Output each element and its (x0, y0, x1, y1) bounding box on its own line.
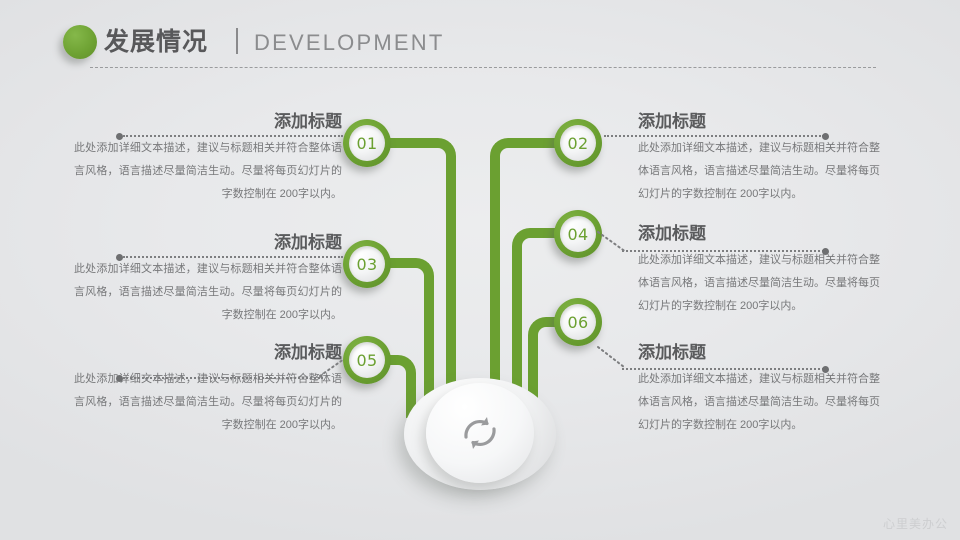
block-01-title: 添加标题 (74, 110, 342, 134)
center-hub-inner[interactable] (426, 383, 534, 483)
block-02-title: 添加标题 (612, 110, 880, 134)
watermark-text: 心里美办公 (883, 515, 948, 532)
block-03-title: 添加标题 (74, 231, 342, 255)
dot-line-06 (622, 368, 824, 373)
dot-cap-02 (822, 133, 829, 140)
header-dashed-rule (90, 67, 876, 68)
refresh-sync-icon (454, 407, 506, 459)
dot-line-05 (123, 377, 323, 382)
text-block-02: 添加标题 此处添加详细文本描述，建议与标题相关并符合整体语言风格，语言描述尽量简… (612, 110, 880, 206)
block-03-body: 此处添加详细文本描述，建议与标题相关并符合整体语言风格，语言描述尽量简洁生动。尽… (74, 258, 342, 327)
dot-line-02 (604, 135, 824, 140)
badge-06-label: 06 (560, 304, 596, 340)
page-subtitle: DEVELOPMENT (254, 27, 444, 59)
dot-cap-04 (822, 248, 829, 255)
green-dot-icon (63, 25, 97, 59)
badge-04-label: 04 (560, 216, 596, 252)
badge-05[interactable]: 05 (343, 336, 391, 384)
leader-04 (596, 230, 630, 256)
badge-04[interactable]: 04 (554, 210, 602, 258)
slide-header: 发展情况 DEVELOPMENT (0, 0, 960, 70)
block-05-title: 添加标题 (74, 341, 342, 365)
dot-cap-05 (116, 375, 123, 382)
dot-line-03 (123, 256, 343, 261)
badge-03-label: 03 (349, 246, 385, 282)
text-block-03: 添加标题 此处添加详细文本描述，建议与标题相关并符合整体语言风格，语言描述尽量简… (74, 231, 342, 327)
leader-06 (596, 345, 628, 371)
text-block-05: 添加标题 此处添加详细文本描述，建议与标题相关并符合整体语言风格，语言描述尽量简… (74, 341, 342, 437)
badge-02[interactable]: 02 (554, 119, 602, 167)
badge-06[interactable]: 06 (554, 298, 602, 346)
block-01-body: 此处添加详细文本描述，建议与标题相关并符合整体语言风格，语言描述尽量简洁生动。尽… (74, 137, 342, 206)
badge-01[interactable]: 01 (343, 119, 391, 167)
title-divider (236, 28, 238, 54)
block-02-body: 此处添加详细文本描述，建议与标题相关并符合整体语言风格，语言描述尽量简洁生动。尽… (612, 137, 880, 206)
badge-05-label: 05 (349, 342, 385, 378)
text-block-06: 添加标题 此处添加详细文本描述，建议与标题相关并符合整体语言风格，语言描述尽量简… (612, 341, 880, 437)
dot-line-01 (123, 135, 343, 140)
dot-cap-01 (116, 133, 123, 140)
dot-cap-03 (116, 254, 123, 261)
block-06-body: 此处添加详细文本描述，建议与标题相关并符合整体语言风格，语言描述尽量简洁生动。尽… (612, 368, 880, 437)
block-04-body: 此处添加详细文本描述，建议与标题相关并符合整体语言风格，语言描述尽量简洁生动。尽… (612, 249, 880, 318)
text-block-04: 添加标题 此处添加详细文本描述，建议与标题相关并符合整体语言风格，语言描述尽量简… (612, 222, 880, 318)
badge-01-label: 01 (349, 125, 385, 161)
badge-03[interactable]: 03 (343, 240, 391, 288)
dot-line-04 (622, 250, 824, 255)
dot-cap-06 (822, 366, 829, 373)
page-title: 发展情况 (104, 25, 208, 59)
leader-05 (318, 356, 348, 380)
badge-02-label: 02 (560, 125, 596, 161)
block-06-title: 添加标题 (612, 341, 880, 365)
text-block-01: 添加标题 此处添加详细文本描述，建议与标题相关并符合整体语言风格，语言描述尽量简… (74, 110, 342, 206)
slide-canvas: 发展情况 DEVELOPMENT 01 02 03 04 05 06 (0, 0, 960, 540)
block-04-title: 添加标题 (612, 222, 880, 246)
